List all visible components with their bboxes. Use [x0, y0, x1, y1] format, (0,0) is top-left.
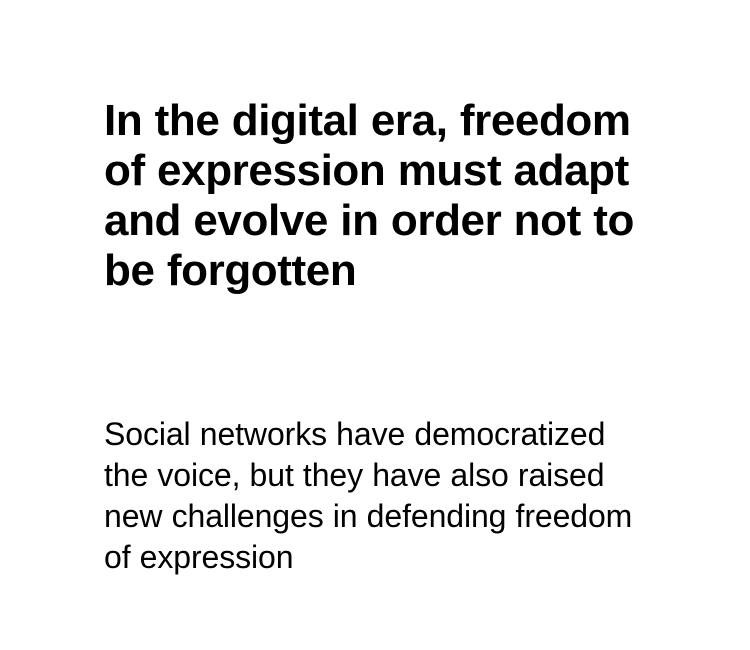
article-standfirst: Social networks have democratized the vo…: [104, 296, 656, 578]
article-content-column: In the digital era, freedom of expressio…: [104, 96, 656, 578]
article-card: In the digital era, freedom of expressio…: [0, 0, 750, 650]
article-headline: In the digital era, freedom of expressio…: [104, 96, 656, 296]
